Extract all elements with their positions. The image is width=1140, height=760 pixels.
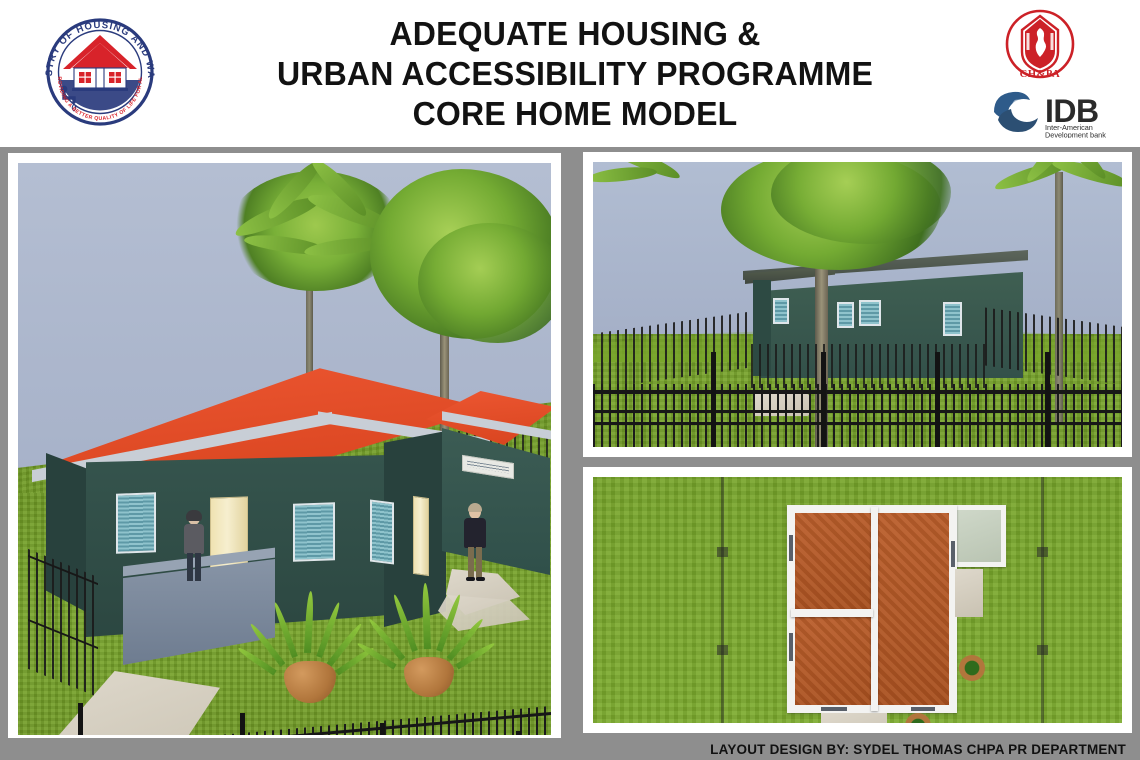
front-entry-steps [821, 713, 887, 723]
window-opening [789, 633, 793, 661]
annex-floor [956, 510, 1001, 562]
window-louvre-center [293, 502, 335, 561]
fence-post [711, 352, 716, 447]
idb-subtitle-line2: Development bank [1045, 131, 1106, 139]
foreground-fence-rail-mid [593, 410, 1122, 413]
floor-plan-top-view-panel [583, 467, 1132, 733]
window-louvre [773, 298, 789, 324]
idb-logo: IDB Inter-American Development bank [988, 86, 1110, 138]
room-floor-front-left [795, 513, 871, 609]
window-louvre-right [370, 500, 394, 565]
foreground-fence-rail-bottom [593, 422, 1122, 425]
annex-landing [955, 569, 983, 617]
fence-post [380, 723, 385, 735]
back-fence-behind-house [751, 344, 991, 388]
plant-pot [404, 657, 454, 697]
front-perspective-render-image [18, 163, 551, 735]
chpa-acronym-text: CH&PA [1020, 69, 1061, 80]
window-opening [911, 707, 935, 711]
floor-plan-top-view-image [593, 477, 1122, 723]
window-opening [821, 707, 847, 711]
title-line-3: CORE HOME MODEL [192, 94, 958, 134]
fence-post [240, 713, 245, 735]
layout-design-credit: LAYOUT DESIGN BY: SYDEL THOMAS CHPA PR D… [710, 742, 1126, 757]
lot-fence-post [1037, 547, 1048, 557]
title-line-2: URBAN ACCESSIBILITY PROGRAMME [192, 54, 958, 94]
window-louvre [837, 302, 854, 328]
potted-plant-top-view [959, 655, 985, 681]
potted-plant-left [270, 591, 350, 711]
annex-door[interactable] [413, 496, 429, 576]
rear-elevation-render-image [593, 162, 1122, 447]
fence-post [935, 352, 940, 447]
person-at-ramp [180, 511, 208, 583]
window-louvre-left [116, 492, 156, 553]
ministry-of-housing-and-water-logo: MINISTRY OF HOUSING AND WATER PROVIDING … [34, 6, 166, 138]
window-louvre [943, 302, 962, 336]
window-opening [789, 535, 793, 561]
lot-fence-line-left [721, 477, 724, 723]
partition-horizontal [791, 609, 873, 617]
rear-elevation-render-panel [583, 152, 1132, 457]
person-at-entry-steps [460, 505, 490, 583]
front-perspective-render-panel [8, 153, 561, 745]
fence-post [516, 731, 521, 735]
poster-header: MINISTRY OF HOUSING AND WATER PROVIDING … [0, 0, 1140, 147]
foreground-fence-rail-top [593, 390, 1122, 394]
room-floor-back-left [795, 617, 871, 705]
fence-post [821, 352, 826, 447]
window-louvre [859, 300, 881, 326]
fence-post [78, 703, 83, 735]
chpa-logo: CH&PA [998, 6, 1082, 86]
page-title: ADEQUATE HOUSING & URBAN ACCESSIBILITY P… [192, 14, 958, 134]
lot-fence-post [1037, 645, 1048, 655]
fence-post [1045, 352, 1050, 447]
poster-page: MINISTRY OF HOUSING AND WATER PROVIDING … [0, 0, 1140, 760]
potted-plant-right [390, 583, 470, 709]
plant-pot [284, 661, 336, 703]
lot-fence-post [717, 547, 728, 557]
title-line-1: ADEQUATE HOUSING & [192, 14, 958, 54]
lot-fence-line-right [1041, 477, 1044, 723]
room-floor-right [878, 513, 949, 705]
window-opening [951, 541, 955, 567]
lot-fence-post [717, 645, 728, 655]
